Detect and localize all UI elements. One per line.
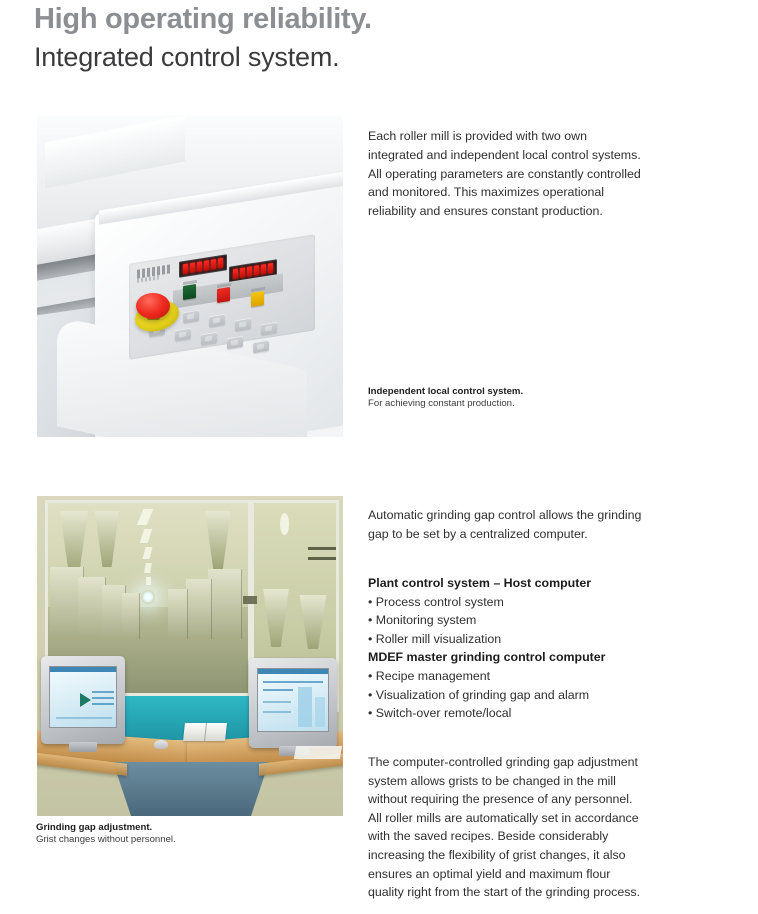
monitor-screen-left [49, 666, 117, 728]
ceiling-light [143, 547, 153, 559]
screen-arrow-icon [80, 693, 91, 707]
screen-data-line [263, 701, 291, 703]
control-room-photo-caption: Grinding gap adjustment. Grist changes w… [36, 822, 336, 846]
computer-mouse[interactable] [154, 740, 168, 749]
led-digit [204, 260, 209, 271]
paragraph-spacer [368, 723, 644, 741]
subhead-host-computer: Plant control system – Host computer [368, 574, 644, 593]
roller-mill-unit [168, 589, 188, 639]
caption-subtitle: Grist changes without personnel. [36, 834, 336, 846]
monitor-stand [69, 742, 97, 752]
mill-hopper-cone [256, 589, 296, 647]
led-digit [218, 258, 223, 269]
start-button-green[interactable] [183, 284, 196, 300]
ceiling-light [146, 577, 151, 585]
screen-data-line [92, 703, 114, 705]
led-digit [247, 266, 252, 277]
list-item: Recipe management [368, 667, 644, 686]
mdef-computer-bullets: Recipe management Visualization of grind… [368, 667, 644, 723]
roller-mill-unit [208, 569, 242, 639]
teal-wall-panel [107, 696, 255, 740]
desk-front-panel [113, 762, 269, 816]
list-item: Process control system [368, 593, 644, 612]
led-digit [268, 263, 273, 274]
section-two-text: Automatic grinding gap control allows th… [368, 494, 644, 914]
mill-hopper-cone [198, 511, 238, 569]
section-two-closing: The computer-controlled grinding gap adj… [368, 753, 644, 902]
list-item: Monitoring system [368, 611, 644, 630]
led-digit [254, 265, 259, 276]
led-digit [190, 262, 195, 273]
machine-control-panel-photo [37, 115, 343, 437]
caption-title: Independent local control system. [368, 386, 644, 398]
list-item: Visualization of grinding gap and alarm [368, 686, 644, 705]
host-computer-bullets: Process control system Monitoring system… [368, 593, 644, 649]
screen-data-line [92, 697, 114, 699]
alarm-button-yellow[interactable] [251, 291, 264, 307]
screen-data-line [56, 717, 112, 719]
screen-data-line [263, 681, 323, 683]
caption-subtitle: For achieving constant production. [368, 398, 644, 410]
section-two-intro: Automatic grinding gap control allows th… [368, 506, 644, 543]
roller-mill-unit [186, 579, 212, 639]
mill-hopper-cone [292, 595, 334, 649]
list-item: Switch-over remote/local [368, 704, 644, 723]
open-binder [183, 723, 227, 741]
paper-sheet [294, 746, 342, 759]
led-digit [240, 267, 245, 278]
section-one-paragraph: Each roller mill is provided with two ow… [368, 127, 644, 220]
led-digit [211, 259, 216, 270]
mill-hopper-cone [52, 511, 96, 573]
heading-line-secondary: Integrated control system. [34, 40, 372, 74]
ceiling-light [140, 529, 153, 543]
mill-hopper-cone [88, 511, 126, 567]
ceiling-light [137, 509, 153, 525]
heading-line-primary: High operating reliability. [34, 2, 372, 36]
screen-titlebar [50, 667, 116, 672]
control-room-photo [37, 496, 343, 816]
led-digit [233, 268, 238, 279]
led-digit [261, 264, 266, 275]
door-rail [308, 557, 338, 560]
emergency-stop-button[interactable] [136, 293, 170, 319]
caption-title: Grinding gap adjustment. [36, 822, 336, 834]
list-item: Roller mill visualization [368, 630, 644, 649]
screen-titlebar [258, 669, 328, 674]
screen-data-line [263, 711, 291, 713]
led-digit [183, 263, 188, 274]
screen-bar-chart [298, 687, 312, 727]
screen-data-line [263, 689, 293, 691]
door-handle[interactable] [243, 596, 257, 604]
screen-data-line [92, 691, 114, 693]
monitor-screen-right [257, 668, 329, 732]
ceiling-light [144, 563, 152, 573]
monitor-right[interactable] [249, 658, 337, 748]
ceiling-light [280, 513, 289, 535]
paragraph-spacer [368, 556, 644, 574]
section-one-text: Each roller mill is provided with two ow… [368, 115, 644, 233]
stop-button-red[interactable] [217, 287, 230, 303]
mill-hall-vanishing-light [141, 590, 155, 604]
subhead-mdef-computer: MDEF master grinding control computer [368, 648, 644, 667]
screen-bar-chart [315, 697, 325, 727]
page-title: High operating reliability. Integrated c… [34, 2, 372, 74]
machine-photo-caption: Independent local control system. For ac… [368, 386, 644, 410]
led-digit [197, 261, 202, 272]
monitor-left[interactable] [41, 656, 125, 744]
roller-mill-unit [122, 593, 140, 639]
door-rail [308, 547, 338, 550]
